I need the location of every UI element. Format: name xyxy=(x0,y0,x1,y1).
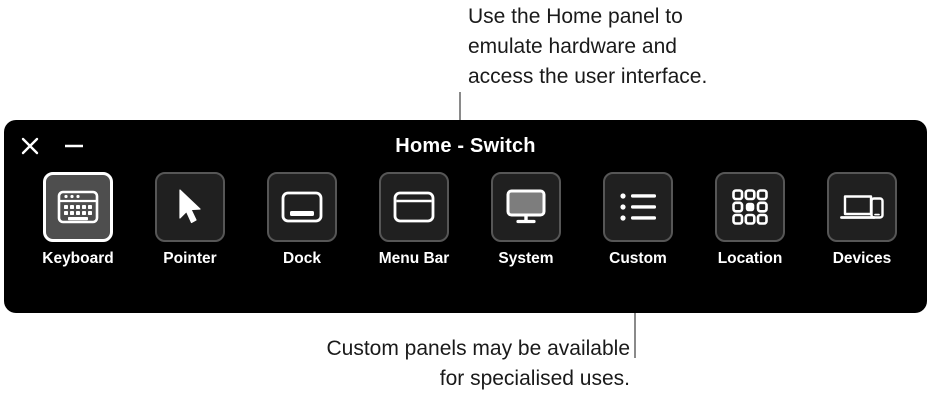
panel-item-keyboard-tile xyxy=(43,172,113,242)
leader-line-top xyxy=(459,92,461,122)
panel-item-custom-tile xyxy=(603,172,673,242)
panel-item-menu-bar[interactable]: Menu Bar xyxy=(358,172,470,268)
keyboard-icon xyxy=(57,189,99,225)
panel-item-dock-label: Dock xyxy=(283,250,321,268)
panel-item-keyboard[interactable]: Keyboard xyxy=(22,172,134,268)
location-grid-icon xyxy=(731,188,769,226)
custom-list-icon xyxy=(618,191,658,223)
panel-item-location[interactable]: Location xyxy=(694,172,806,268)
panel-item-devices-label: Devices xyxy=(833,250,892,268)
panel-item-row: Keyboard Pointer xyxy=(4,172,927,268)
panel-item-location-tile xyxy=(715,172,785,242)
panel-item-menu-bar-label: Menu Bar xyxy=(379,250,450,268)
panel-item-devices-tile xyxy=(827,172,897,242)
panel-item-system[interactable]: System xyxy=(470,172,582,268)
panel-item-location-label: Location xyxy=(718,250,783,268)
panel-item-custom-label: Custom xyxy=(609,250,667,268)
panel-item-custom[interactable]: Custom xyxy=(582,172,694,268)
panel-item-system-tile xyxy=(491,172,561,242)
panel-item-devices[interactable]: Devices xyxy=(806,172,918,268)
system-display-icon xyxy=(505,188,547,226)
pointer-icon xyxy=(173,187,207,227)
panel-item-pointer-label: Pointer xyxy=(163,250,216,268)
panel-item-dock-tile xyxy=(267,172,337,242)
devices-icon xyxy=(839,190,885,224)
panel-item-menu-bar-tile xyxy=(379,172,449,242)
panel-item-dock[interactable]: Dock xyxy=(246,172,358,268)
panel-item-pointer[interactable]: Pointer xyxy=(134,172,246,268)
panel-titlebar: Home - Switch xyxy=(4,120,927,176)
panel-title: Home - Switch xyxy=(4,135,927,158)
annotation-bottom-text: Custom panels may be available for speci… xyxy=(205,334,630,394)
leader-line-bottom xyxy=(634,313,636,358)
menu-bar-icon xyxy=(393,190,435,224)
switch-control-home-panel: Home - Switch xyxy=(4,120,927,313)
panel-item-system-label: System xyxy=(498,250,553,268)
panel-item-pointer-tile xyxy=(155,172,225,242)
annotation-top-text: Use the Home panel to emulate hardware a… xyxy=(468,2,707,92)
dock-icon xyxy=(281,190,323,224)
panel-item-keyboard-label: Keyboard xyxy=(42,250,114,268)
